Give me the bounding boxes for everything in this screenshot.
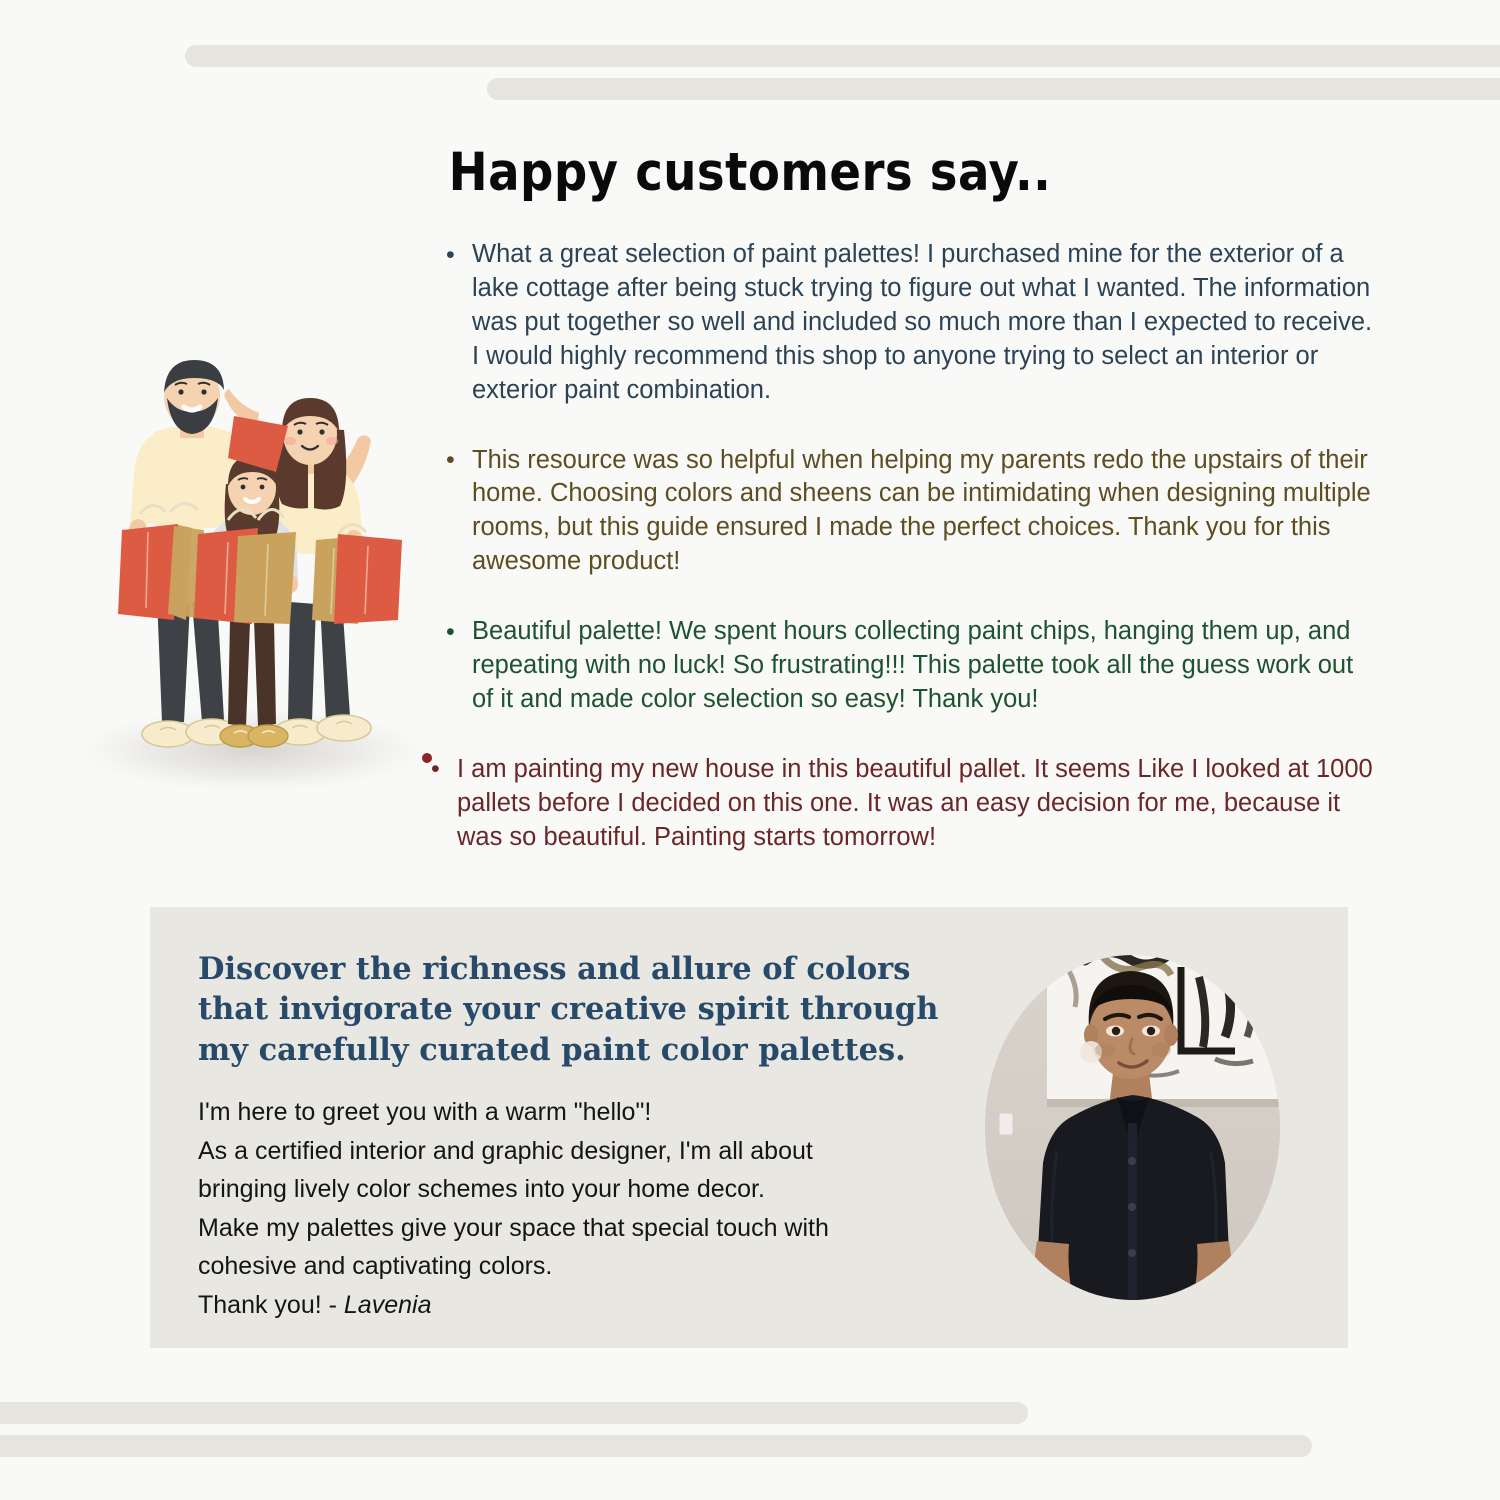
about-heading: Discover the richness and allure of colo…: [198, 949, 958, 1070]
decorative-bar-bottom-2: [0, 1435, 1312, 1457]
testimonial-text: This resource was so helpful when helpin…: [472, 446, 1371, 576]
bullet-marker: •: [446, 616, 455, 649]
testimonial-text: Beautiful palette! We spent hours collec…: [472, 617, 1353, 713]
decorative-bar-top-2: [487, 78, 1500, 100]
about-line: cohesive and captivating colors.: [198, 1247, 988, 1286]
about-designer-card: Discover the richness and allure of colo…: [150, 907, 1348, 1348]
decorative-bar-top-1: [185, 45, 1500, 67]
about-signature-line: Thank you! - Lavenia: [198, 1286, 988, 1325]
bullet-marker: •: [431, 753, 440, 786]
testimonial-text: What a great selection of paint palettes…: [472, 240, 1372, 404]
thanks-text: Thank you! -: [198, 1291, 344, 1319]
testimonial-item: • I am painting my new house in this bea…: [415, 753, 1380, 855]
testimonial-item: • This resource was so helpful when help…: [430, 444, 1380, 580]
about-body: I'm here to greet you with a warm "hello…: [198, 1093, 988, 1324]
decorative-bar-bottom-1: [0, 1402, 1028, 1424]
about-line: bringing lively color schemes into your …: [198, 1170, 988, 1209]
testimonial-text: I am painting my new house in this beaut…: [457, 755, 1373, 851]
designer-portrait: [985, 955, 1280, 1300]
bullet-marker: •: [446, 239, 455, 272]
bullet-marker: •: [446, 444, 455, 477]
about-line: Make my palettes give your space that sp…: [198, 1209, 988, 1248]
about-line: I'm here to greet you with a warm "hello…: [198, 1093, 988, 1132]
family-shopping-illustration: [62, 352, 442, 822]
about-line: As a certified interior and graphic desi…: [198, 1132, 988, 1171]
testimonial-item: • What a great selection of paint palett…: [430, 238, 1380, 408]
page-title: Happy customers say..: [90, 142, 1410, 203]
signature-name: Lavenia: [344, 1291, 432, 1319]
testimonials-list: • What a great selection of paint palett…: [430, 238, 1380, 891]
testimonial-item: • Beautiful palette! We spent hours coll…: [430, 615, 1380, 717]
